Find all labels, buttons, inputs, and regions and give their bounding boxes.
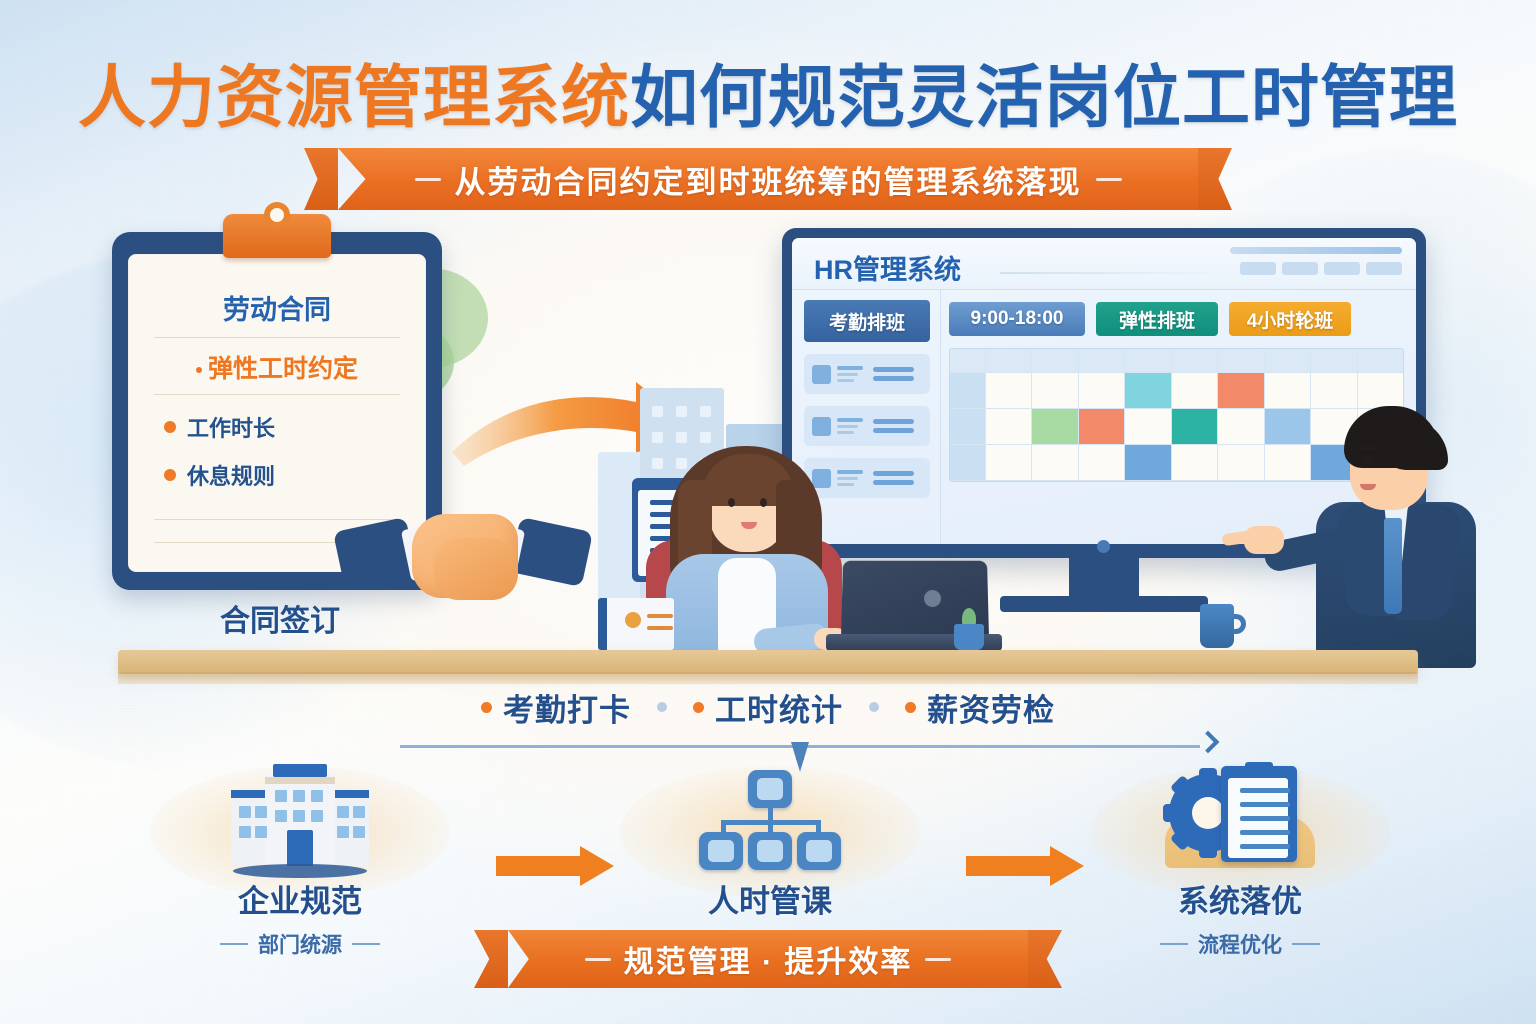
step-subtitle: 流程优化 xyxy=(1090,929,1390,959)
desk-edge xyxy=(118,672,1418,684)
process-timeline xyxy=(400,745,1200,748)
calendar-head-cell xyxy=(1079,349,1125,373)
footer-dash-left xyxy=(585,958,611,961)
step-label: 系统落优 xyxy=(1090,876,1390,921)
feature-separator-icon xyxy=(657,702,667,712)
feature-label: 薪资劳检 xyxy=(927,685,1055,730)
contract-divider-top xyxy=(154,337,400,338)
calendar-cell-salmon[interactable] xyxy=(1079,409,1125,445)
shift-chip-time[interactable]: 9:00-18:00 xyxy=(949,302,1085,336)
step-label: 企业规范 xyxy=(150,876,450,921)
calendar-cell[interactable] xyxy=(986,373,1032,409)
calendar-row-label xyxy=(950,373,986,409)
monitor-neck xyxy=(1069,558,1139,600)
nav-button-1[interactable] xyxy=(1240,262,1276,275)
org-chart-icon xyxy=(620,760,920,882)
calendar-cell[interactable] xyxy=(1032,373,1078,409)
calendar-head-cell xyxy=(1032,349,1078,373)
calendar-cell[interactable] xyxy=(1265,373,1311,409)
page-title: 人力资源管理系统如何规范灵活岗位工时管理 xyxy=(0,42,1536,141)
feature-label: 考勤打卡 xyxy=(503,685,631,730)
calendar-cell[interactable] xyxy=(986,409,1032,445)
feature-item-attendance: 考勤打卡 xyxy=(481,685,631,730)
coffee-mug-icon xyxy=(1200,604,1240,648)
contract-bullet-label: 工作时长 xyxy=(187,411,275,443)
calendar-cell-salmon[interactable] xyxy=(1218,373,1264,409)
calendar-cell[interactable] xyxy=(1172,445,1218,481)
calendar-head-cell xyxy=(1218,349,1264,373)
feature-label-row: 考勤打卡 工时统计 薪资劳检 xyxy=(0,684,1536,730)
title-blue-part: 如何规范灵活岗位工时管理 xyxy=(630,60,1458,136)
calendar-cell[interactable] xyxy=(1172,373,1218,409)
highlight-dot-icon xyxy=(196,367,202,373)
feature-item-hours: 工时统计 xyxy=(693,685,843,730)
calendar-head-cell xyxy=(1311,349,1357,373)
list-thumb-icon xyxy=(812,365,831,384)
contract-divider-bottom xyxy=(154,394,400,395)
calendar-cell[interactable] xyxy=(1311,373,1357,409)
feature-dot-icon xyxy=(905,702,916,713)
shift-chip-rotation[interactable]: 4小时轮班 xyxy=(1229,302,1351,336)
header-rule xyxy=(1000,272,1226,274)
calendar-row-label xyxy=(950,409,986,445)
calendar-cell-teal[interactable] xyxy=(1172,409,1218,445)
monitor-base xyxy=(1000,596,1208,612)
feature-dot-icon xyxy=(693,702,704,713)
step-sub-text: 流程优化 xyxy=(1198,929,1282,959)
footer-banner-text: 规范管理 · 提升效率 xyxy=(624,937,913,981)
calendar-cell[interactable] xyxy=(1125,409,1171,445)
flow-step-workhours: 人时管课 xyxy=(620,760,920,921)
contract-bullet-item: 休息规则 xyxy=(164,459,400,491)
calendar-cell[interactable] xyxy=(1218,409,1264,445)
shift-chip-group: 9:00-18:00 弹性排班 4小时轮班 xyxy=(949,302,1404,336)
footer-dash-right xyxy=(925,958,951,961)
building-icon xyxy=(150,760,450,882)
calendar-cell[interactable] xyxy=(1358,373,1403,409)
desk-book-icon xyxy=(598,598,674,650)
nav-button-2[interactable] xyxy=(1282,262,1318,275)
list-thumb-icon xyxy=(812,417,831,436)
calendar-header-row xyxy=(950,349,1403,373)
manager-avatar xyxy=(1298,406,1488,668)
contract-bullet-item: 工作时长 xyxy=(164,411,400,443)
step-label: 人时管课 xyxy=(620,876,920,921)
sidebar-list-item[interactable] xyxy=(804,354,930,394)
flow-step-system: 系统落优 流程优化 xyxy=(1090,760,1390,959)
title-orange-part: 人力资源管理系统 xyxy=(78,60,630,136)
calendar-cell[interactable] xyxy=(986,445,1032,481)
calendar-head-cell xyxy=(1358,349,1403,373)
bullet-dot-icon xyxy=(164,421,176,433)
feature-item-payroll: 薪资劳检 xyxy=(905,685,1055,730)
contract-highlight: 弹性工时约定 xyxy=(154,349,400,385)
calendar-corner-cell xyxy=(950,349,986,373)
feature-separator-icon xyxy=(869,702,879,712)
calendar-head-cell xyxy=(986,349,1032,373)
calendar-cell[interactable] xyxy=(1079,445,1125,481)
hr-brand-title: HR管理系统 xyxy=(814,248,961,287)
subtitle-text: 从劳动合同约定到时班统筹的管理系统落现 xyxy=(455,157,1082,202)
footer-banner: 规范管理 · 提升效率 xyxy=(508,930,1028,988)
infographic-canvas: 人力资源管理系统如何规范灵活岗位工时管理 从劳动合同约定到时班统筹的管理系统落现… xyxy=(0,0,1536,1024)
desk-plant-icon xyxy=(952,608,986,650)
step-sub-text: 部门统源 xyxy=(258,929,342,959)
desk-surface xyxy=(118,650,1418,674)
gear-clipboard-icon xyxy=(1090,760,1390,882)
bullet-dot-icon xyxy=(164,469,176,481)
banner-dash-right xyxy=(1096,178,1122,181)
flow-connector-arrow-1 xyxy=(496,846,614,886)
feature-label: 工时统计 xyxy=(715,685,843,730)
calendar-head-cell xyxy=(1125,349,1171,373)
contract-bullet-label: 休息规则 xyxy=(187,459,275,491)
calendar-cell[interactable] xyxy=(1032,445,1078,481)
calendar-head-cell xyxy=(1265,349,1311,373)
nav-button-4[interactable] xyxy=(1366,262,1402,275)
sidebar-header: 考勤排班 xyxy=(804,300,930,342)
handshake-icon xyxy=(338,500,588,630)
calendar-row xyxy=(950,373,1403,409)
flow-step-enterprise: 企业规范 部门统源 xyxy=(150,760,450,959)
contract-title: 劳动合同 xyxy=(154,288,400,327)
calendar-head-cell xyxy=(1172,349,1218,373)
contract-highlight-text: 弹性工时约定 xyxy=(208,355,358,383)
monitor-indicator-icon xyxy=(1097,540,1110,553)
screen-header: HR管理系统 xyxy=(792,238,1416,290)
step-subtitle: 部门统源 xyxy=(150,929,450,959)
nav-button-3[interactable] xyxy=(1324,262,1360,275)
calendar-row-label xyxy=(950,445,986,481)
calendar-cell[interactable] xyxy=(1079,373,1125,409)
calendar-cell[interactable] xyxy=(1218,445,1264,481)
header-nav-group[interactable] xyxy=(1240,262,1402,275)
subtitle-banner: 从劳动合同约定到时班统筹的管理系统落现 xyxy=(338,148,1198,210)
header-progress-bar xyxy=(1230,247,1402,254)
calendar-cell-cyan[interactable] xyxy=(1125,373,1171,409)
calendar-cell-blue[interactable] xyxy=(1125,445,1171,481)
clipboard-ring-icon xyxy=(264,202,290,228)
flow-connector-arrow-2 xyxy=(966,846,1084,886)
banner-dash-left xyxy=(415,178,441,181)
calendar-cell-green[interactable] xyxy=(1032,409,1078,445)
shift-chip-flexible[interactable]: 弹性排班 xyxy=(1096,302,1218,336)
feature-dot-icon xyxy=(481,702,492,713)
